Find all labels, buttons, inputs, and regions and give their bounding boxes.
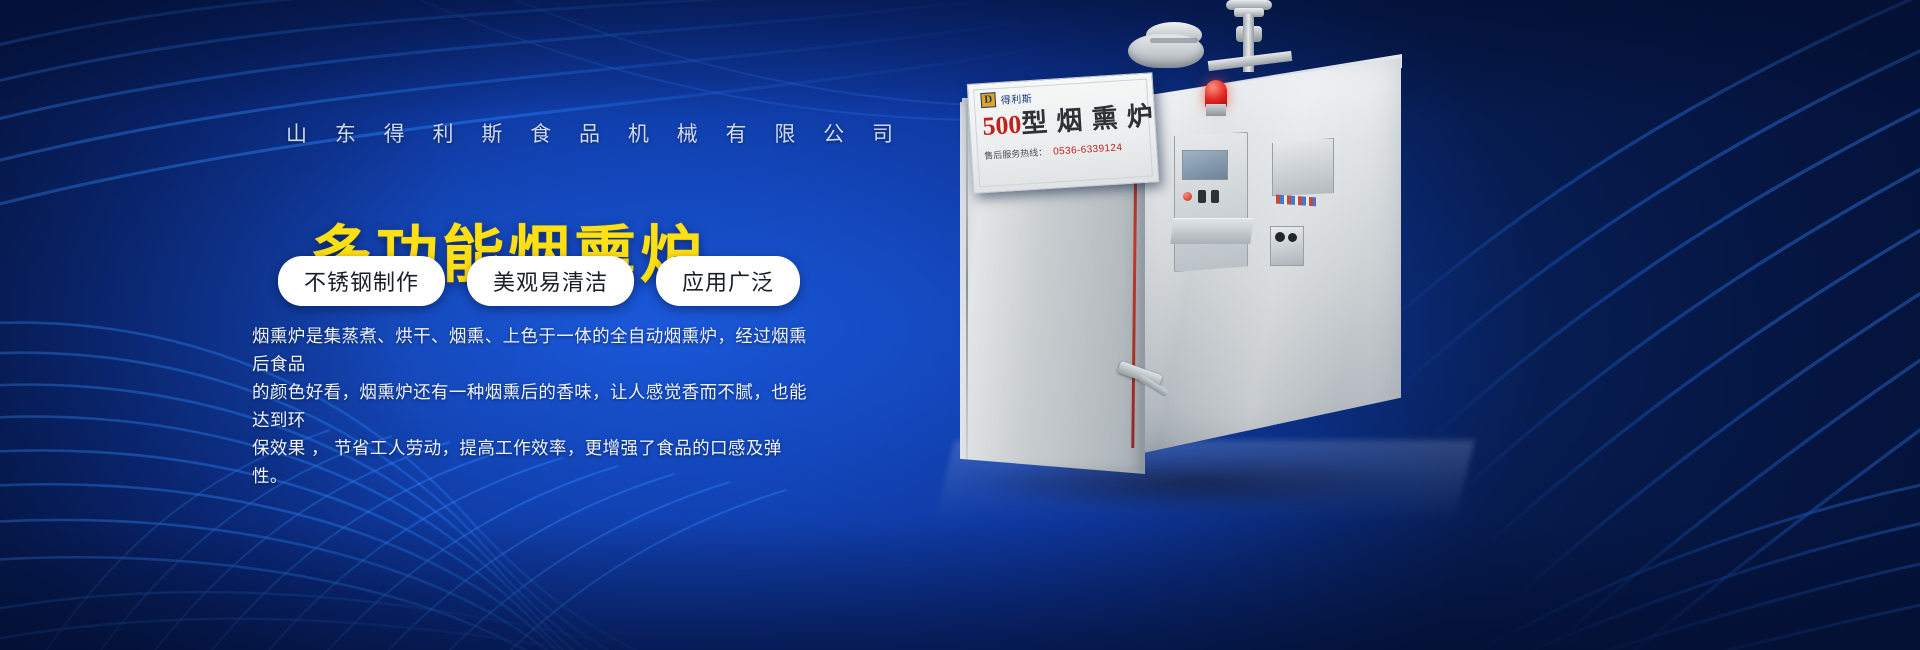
company-name: 山 东 得 利 斯 食 品 机 械 有 限 公 司 — [286, 118, 904, 148]
control-panel-screen — [1182, 150, 1228, 180]
banner-copy: 山 东 得 利 斯 食 品 机 械 有 限 公 司 多功能烟熏炉 不锈钢制作 美… — [0, 0, 900, 650]
cabinet-door-seam — [966, 104, 968, 466]
description-line-2: 的颜色好看，烟熏炉还有一种烟熏后的香味，让人感觉香而不腻，也能达到环 — [252, 378, 812, 434]
machine-nameplate: D 得利斯 500型 烟 熏 炉 售后服务热线： 0536-6339124 — [967, 72, 1160, 193]
nameplate-model-number: 500 — [982, 110, 1023, 141]
alarm-beacon-base — [1206, 104, 1226, 116]
feature-pill-easy-clean[interactable]: 美观易清洁 — [467, 256, 634, 306]
auxiliary-valve-box — [1270, 226, 1304, 266]
control-panel-switch-2 — [1211, 190, 1219, 203]
description-line-1: 烟熏炉是集蒸煮、烘干、烟熏、上色于一体的全自动烟熏炉，经过烟熏后食品 — [252, 322, 812, 378]
auxiliary-box — [1272, 138, 1334, 196]
promo-banner: D 得利斯 500型 烟 熏 炉 售后服务热线： 0536-6339124 山 … — [0, 0, 1920, 650]
feature-pill-stainless[interactable]: 不锈钢制作 — [278, 256, 445, 306]
feature-pill-wide-use[interactable]: 应用广泛 — [656, 256, 800, 306]
exhaust-vent-band — [1150, 38, 1198, 43]
feature-pill-list: 不锈钢制作 美观易清洁 应用广泛 — [278, 256, 800, 306]
auxiliary-valve-2 — [1288, 233, 1297, 242]
control-panel-switch-1 — [1198, 190, 1206, 203]
control-panel-red-button — [1183, 192, 1192, 201]
auxiliary-valve-1 — [1275, 232, 1285, 242]
product-photo: D 得利斯 500型 烟 熏 炉 售后服务热线： 0536-6339124 — [950, 0, 1590, 650]
brand-logo-icon: D — [980, 92, 996, 108]
description-line-3: 保效果 ， 节省工人劳动，提高工作效率，更增强了食品的口感及弹性。 — [252, 434, 812, 490]
brand-logo-text: 得利斯 — [1000, 90, 1032, 107]
product-description: 烟熏炉是集蒸煮、烘干、烟熏、上色于一体的全自动烟熏炉，经过烟熏后食品 的颜色好看… — [252, 322, 812, 490]
control-panel-tray — [1170, 218, 1254, 244]
